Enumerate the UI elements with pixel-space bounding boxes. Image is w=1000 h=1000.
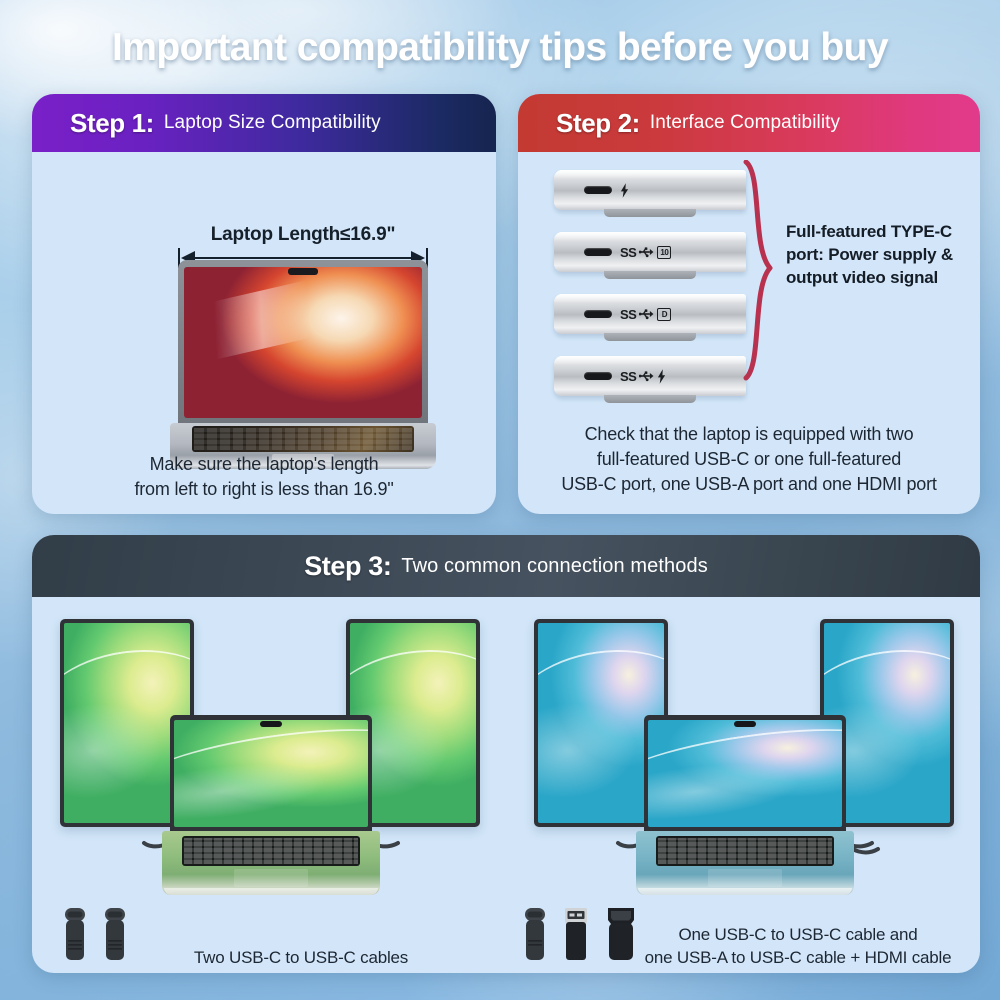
laptop-screen [174,720,368,827]
step3-right-caption-line2: one USB-A to USB-C cable + HDMI cable [616,946,980,969]
port-markings: SS 10 [620,243,671,261]
callout-line1: Full-featured TYPE-C [786,220,978,243]
keyboard [656,836,834,866]
step3-left-caption: Two USB-C to USB-C cables [136,946,466,969]
laptop-illustration-left [162,715,380,905]
step1-card: Step 1: Laptop Size Compatibility Laptop… [32,94,496,514]
keyboard [192,426,414,452]
usb-trident-icon [639,246,654,258]
connection-method-left: Two USB-C to USB-C cables [32,597,506,973]
usb-trident-icon [639,308,654,320]
base-lip [638,888,852,895]
page-title: Important compatibility tips before you … [0,26,1000,70]
laptop-lid [178,260,428,426]
usb-c-plug [62,906,88,967]
laptop-illustration-step1 [170,260,436,472]
laptop-illustration-right [636,715,854,905]
step2-caption: Check that the laptop is equipped with t… [518,422,980,497]
step1-caption-line2: from left to right is less than 16.9" [32,477,496,502]
usb-c-port-icon [584,248,612,256]
displayport-icon: D [657,308,671,321]
step3-card: Step 3: Two common connection methods [32,535,980,973]
step1-caption: Make sure the laptop's length from left … [32,452,496,502]
webcam-notch-icon [260,721,282,727]
step2-body: SS 10 [518,152,980,514]
base-lip [164,888,378,895]
step1-subtitle: Laptop Size Compatibility [164,112,381,134]
port-row: SS [546,350,746,412]
usb-c-connector-icon [102,906,128,962]
usb-a-plug [562,906,590,967]
thunderbolt-box-icon: 10 [657,246,671,259]
curly-brace-icon [740,160,784,382]
usb-c-port-icon [584,310,612,318]
usb-c-plug [522,906,548,967]
step1-header: Step 1: Laptop Size Compatibility [32,94,496,152]
superspeed-label: SS [620,245,636,260]
usb-c-port-icon [584,372,612,380]
usb-a-connector-icon [562,906,590,962]
step3-right-caption-line1: One USB-C to USB-C cable and [616,923,980,946]
webcam-notch-icon [734,721,756,727]
step3-subtitle: Two common connection methods [401,555,707,578]
callout-line3: output video signal [786,266,978,289]
laptop-lid [170,715,372,833]
port-markings: SS D [620,305,671,323]
laptop-edge-illustration: SS D [554,294,746,334]
step2-caption-line1: Check that the laptop is equipped with t… [518,422,980,447]
step2-subtitle: Interface Compatibility [650,112,840,134]
laptop-base [636,831,854,895]
usb-c-port-icon [584,186,612,194]
usb-c-connector-icon [62,906,88,962]
trackpad [708,869,782,887]
step1-body: Laptop Length≤16.9" Make sure the laptop… [32,152,496,514]
keyboard [182,836,360,866]
laptop-screen [648,720,842,827]
usb-trident-icon [639,370,654,382]
usb-c-connector-icon [522,906,548,962]
step2-caption-line2: full-featured USB-C or one full-featured [518,447,980,472]
laptop-lid [644,715,846,833]
full-featured-callout: Full-featured TYPE-C port: Power supply … [786,220,978,289]
superspeed-label: SS [620,369,636,384]
thunderbolt-icon [620,183,629,198]
connection-method-right: One USB-C to USB-C cable and one USB-A t… [506,597,980,973]
usb-c-plug [102,906,128,967]
laptop-base [162,831,380,895]
laptop-length-label: Laptop Length≤16.9" [178,224,428,246]
step2-header: Step 2: Interface Compatibility [518,94,980,152]
callout-line2: port: Power supply & [786,243,978,266]
cable-plugs-left [62,906,128,967]
thunderbolt-icon [657,369,666,384]
step1-number: Step 1: [70,108,154,139]
port-row [546,164,746,226]
port-row: SS 10 [546,226,746,288]
step2-number: Step 2: [556,108,640,139]
webcam-notch-icon [288,268,318,275]
laptop-edge-illustration: SS 10 [554,232,746,272]
step3-number: Step 3: [304,551,391,582]
superspeed-label: SS [620,307,636,322]
step3-right-caption: One USB-C to USB-C cable and one USB-A t… [616,923,980,969]
laptop-edge-illustration [554,170,746,210]
port-markings [620,181,629,199]
port-markings: SS [620,367,666,385]
step2-caption-line3: USB-C port, one USB-A port and one HDMI … [518,472,980,497]
step3-body: Two USB-C to USB-C cables [32,597,980,973]
laptop-edge-illustration: SS [554,356,746,396]
laptop-port-list: SS 10 [546,164,746,412]
trackpad [234,869,308,887]
step2-card: Step 2: Interface Compatibility [518,94,980,514]
step1-caption-line1: Make sure the laptop's length [32,452,496,477]
step3-header: Step 3: Two common connection methods [32,535,980,597]
port-row: SS D [546,288,746,350]
laptop-screen-wallpaper [184,267,422,418]
